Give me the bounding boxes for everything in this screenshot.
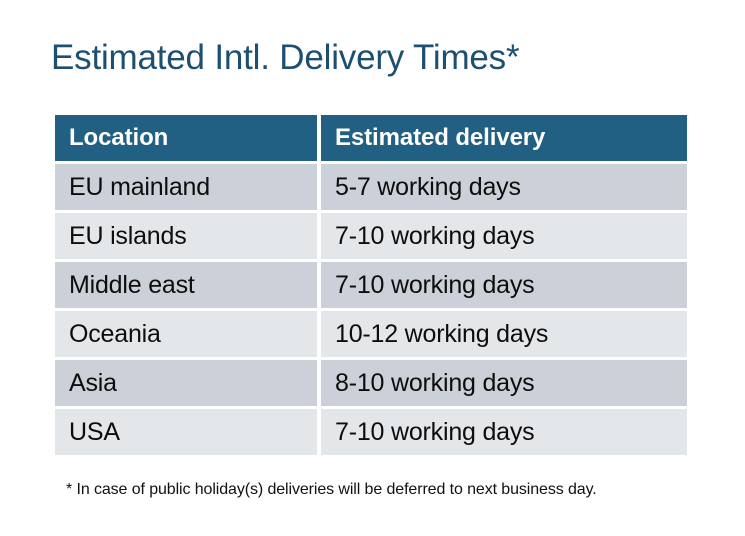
delivery-times-table: Location Estimated delivery EU mainland … — [51, 112, 691, 458]
table-header-row: Location Estimated delivery — [55, 115, 687, 161]
table-row: EU mainland 5-7 working days — [55, 164, 687, 210]
column-header-estimated-delivery: Estimated delivery — [321, 115, 687, 161]
cell-location: Oceania — [55, 311, 317, 357]
page-title: Estimated Intl. Delivery Times* — [51, 36, 519, 80]
cell-estimated-delivery: 7-10 working days — [321, 409, 687, 455]
table-row: EU islands 7-10 working days — [55, 213, 687, 259]
cell-estimated-delivery: 8-10 working days — [321, 360, 687, 406]
cell-estimated-delivery: 10-12 working days — [321, 311, 687, 357]
table-row: Middle east 7-10 working days — [55, 262, 687, 308]
cell-location: Middle east — [55, 262, 317, 308]
table-body: EU mainland 5-7 working days EU islands … — [55, 164, 687, 455]
cell-estimated-delivery: 7-10 working days — [321, 262, 687, 308]
column-header-location: Location — [55, 115, 317, 161]
cell-location: Asia — [55, 360, 317, 406]
table-head: Location Estimated delivery — [55, 115, 687, 161]
cell-estimated-delivery: 7-10 working days — [321, 213, 687, 259]
cell-estimated-delivery: 5-7 working days — [321, 164, 687, 210]
cell-location: USA — [55, 409, 317, 455]
cell-location: EU mainland — [55, 164, 317, 210]
table-row: USA 7-10 working days — [55, 409, 687, 455]
cell-location: EU islands — [55, 213, 317, 259]
table-row: Asia 8-10 working days — [55, 360, 687, 406]
table-row: Oceania 10-12 working days — [55, 311, 687, 357]
footnote-text: * In case of public holiday(s) deliverie… — [66, 479, 597, 501]
delivery-times-page: Estimated Intl. Delivery Times* Location… — [0, 0, 745, 536]
